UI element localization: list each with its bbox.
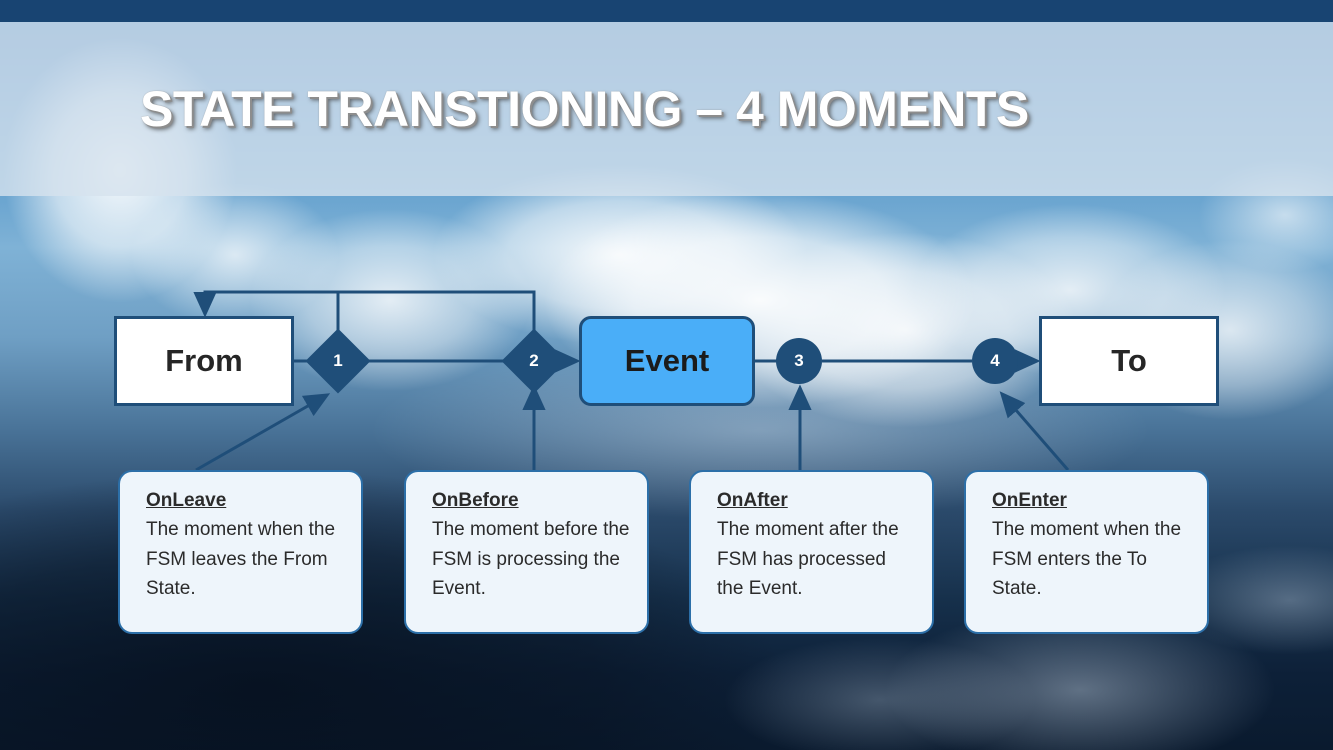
- callout-onleave-title: OnLeave: [146, 486, 345, 515]
- callout-onafter-body: The moment after the FSM has processed t…: [717, 515, 916, 603]
- page-title: STATE TRANSTIONING – 4 MOMENTS: [0, 22, 1333, 196]
- callout-onenter-title: OnEnter: [992, 486, 1191, 515]
- callout-onenter[interactable]: OnEnter The moment when the FSM enters t…: [964, 470, 1209, 634]
- moment-node-2-label: 2: [511, 338, 557, 384]
- from-state-box[interactable]: From: [114, 316, 294, 406]
- moment-node-4-circle[interactable]: 4: [972, 338, 1018, 384]
- moment-node-3-label: 3: [794, 351, 803, 371]
- callout-onafter-title: OnAfter: [717, 486, 916, 515]
- callout-onbefore[interactable]: OnBefore The moment before the FSM is pr…: [404, 470, 649, 634]
- moment-node-4-label: 4: [990, 351, 999, 371]
- header-top-strip: [0, 0, 1333, 22]
- callout-onenter-body: The moment when the FSM enters the To St…: [992, 515, 1191, 603]
- callout-onleave-body: The moment when the FSM leaves the From …: [146, 515, 345, 603]
- event-box[interactable]: Event: [579, 316, 755, 406]
- callout-onafter[interactable]: OnAfter The moment after the FSM has pro…: [689, 470, 934, 634]
- moment-node-3-circle[interactable]: 3: [776, 338, 822, 384]
- callout-onbefore-title: OnBefore: [432, 486, 631, 515]
- moment-node-1-label: 1: [315, 338, 361, 384]
- to-state-label: To: [1111, 343, 1147, 379]
- to-state-box[interactable]: To: [1039, 316, 1219, 406]
- callout-onleave[interactable]: OnLeave The moment when the FSM leaves t…: [118, 470, 363, 634]
- event-label: Event: [625, 343, 709, 379]
- from-state-label: From: [165, 343, 243, 379]
- callout-onbefore-body: The moment before the FSM is processing …: [432, 515, 631, 603]
- slide: STATE TRANSTIONING – 4 MOMENTS: [0, 0, 1333, 750]
